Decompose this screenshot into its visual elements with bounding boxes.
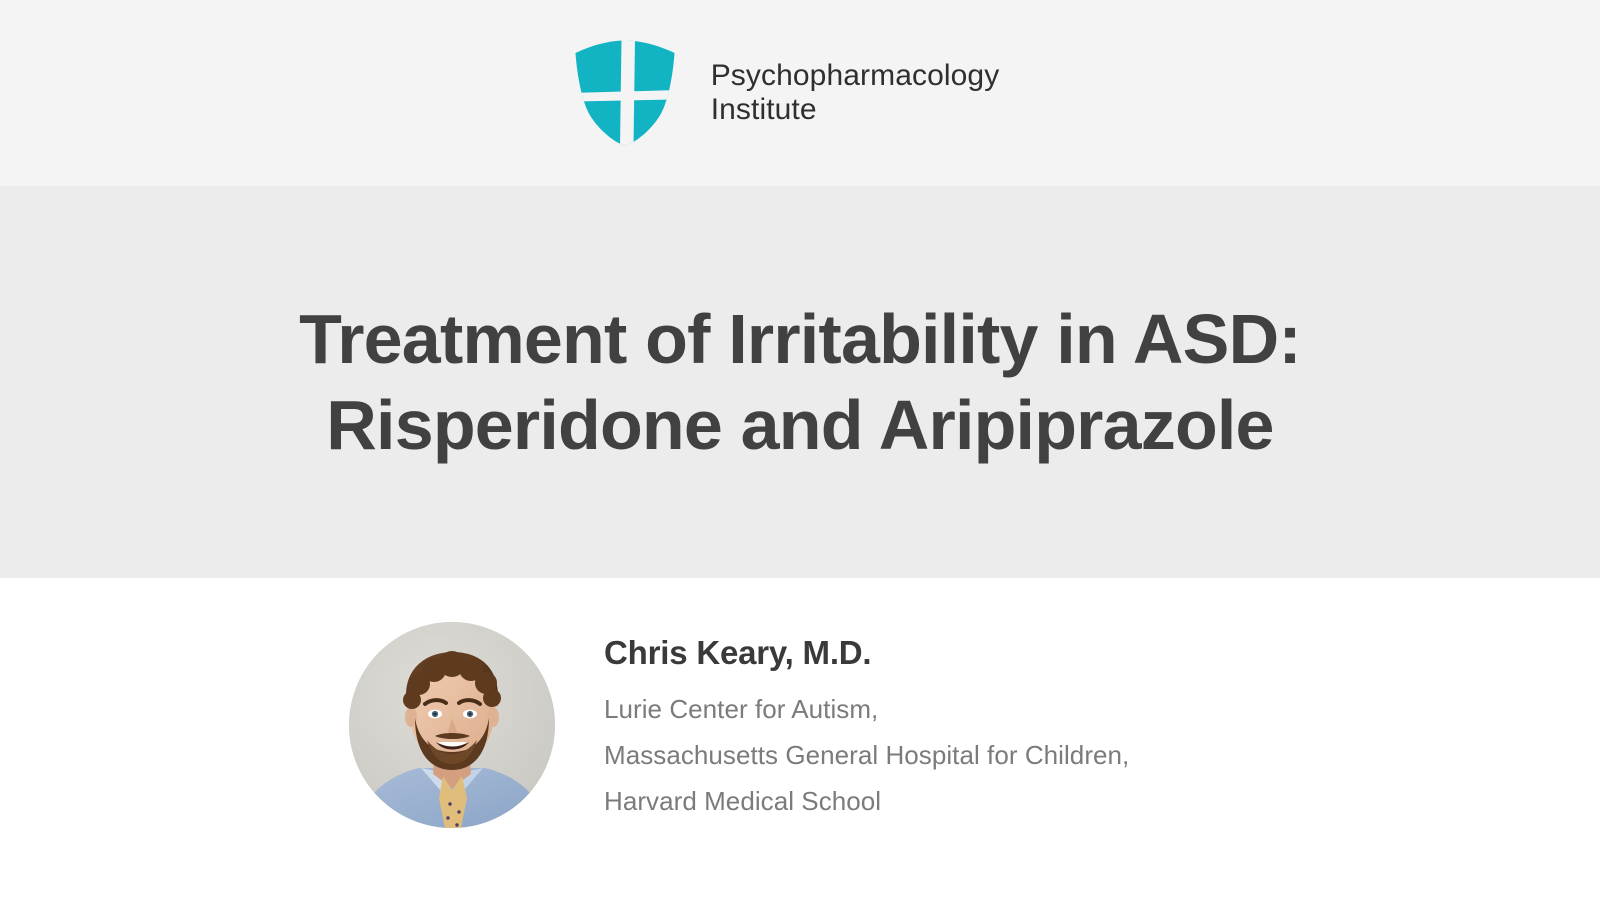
title-slide: Psychopharmacology Institute Treatment o…	[0, 0, 1600, 899]
presenter-portrait-photo-icon	[349, 622, 555, 828]
affiliation-line: Massachusetts General Hospital for Child…	[604, 733, 1129, 779]
presenter-text: Chris Keary, M.D. Lurie Center for Autis…	[604, 622, 1129, 824]
affiliation-line: Lurie Center for Autism,	[604, 687, 1129, 733]
presenter-row: Chris Keary, M.D. Lurie Center for Autis…	[349, 622, 1129, 828]
shield-quadrant-logo-icon	[573, 39, 677, 147]
title-band: Treatment of Irritability in ASD: Risper…	[0, 186, 1600, 578]
presenter-affiliations: Lurie Center for Autism, Massachusetts G…	[604, 687, 1129, 824]
brand-wordmark: Psychopharmacology Institute	[711, 59, 1000, 128]
page-title: Treatment of Irritability in ASD: Risper…	[220, 296, 1380, 468]
presenter-name: Chris Keary, M.D.	[604, 634, 1129, 672]
header-band: Psychopharmacology Institute	[0, 0, 1600, 186]
brand-lockup: Psychopharmacology Institute	[573, 39, 1000, 147]
affiliation-line: Harvard Medical School	[604, 779, 1129, 825]
presenter-band: Chris Keary, M.D. Lurie Center for Autis…	[0, 578, 1600, 899]
avatar	[349, 622, 555, 828]
